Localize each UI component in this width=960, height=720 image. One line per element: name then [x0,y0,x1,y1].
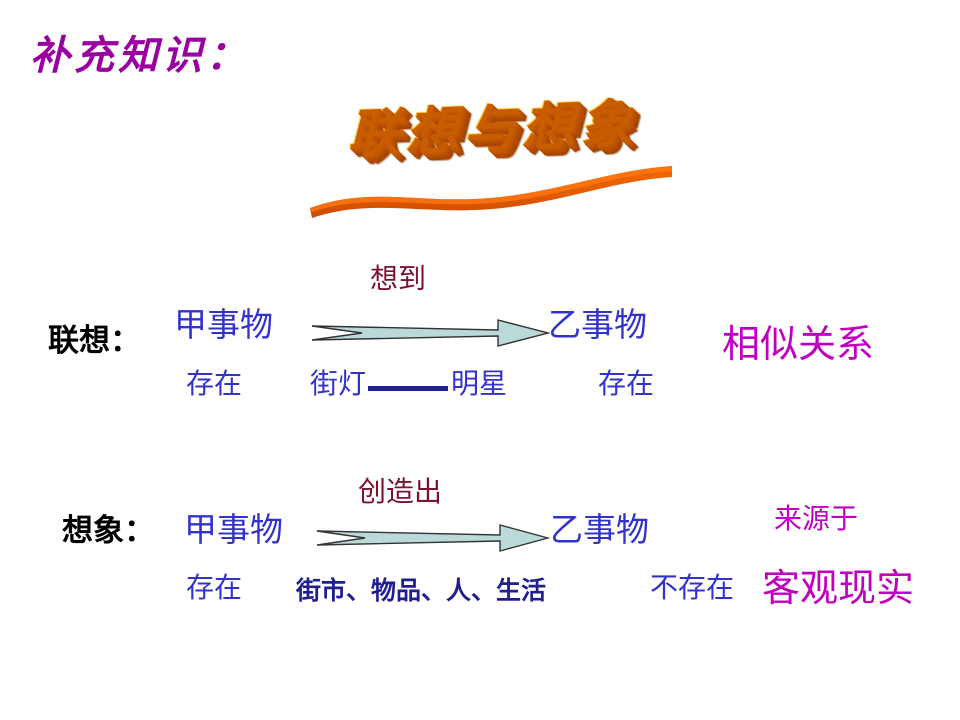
arrow-label-lianxiang: 想到 [370,266,426,294]
right-arrow-icon-lianxiang [310,316,550,350]
source-xiangxiang: 甲事物 [184,515,283,548]
target-state-lianxiang: 存在 [598,371,654,399]
slide-canvas: 补充知识： 联想与想象 联想： 想到 甲事物 乙事物 存在 街灯 [0,0,960,720]
wordart-title-group: 联想与想象 [300,98,680,218]
target-lianxiang: 乙事物 [548,310,647,343]
example-right-lianxiang: 明星 [451,371,507,399]
source-lianxiang: 甲事物 [174,310,273,343]
wordart-title: 联想与想象 [322,95,662,163]
example-left-xiangxiang: 街市、物品、人、生活 [296,579,546,604]
arrow-label-xiangxiang: 创造出 [358,479,442,507]
conclusion-line-2-xiangxiang: 客观现实 [762,570,914,608]
example-left-lianxiang: 街灯 [310,371,366,399]
diagram-row-lianxiang: 联想： 想到 甲事物 乙事物 存在 街灯 明星 存在 相似关系 [0,258,960,418]
target-xiangxiang: 乙事物 [550,515,649,548]
conclusion-lianxiang: 相似关系 [722,326,874,364]
conclusion-line-1-xiangxiang: 来源于 [774,506,858,534]
source-state-lianxiang: 存在 [186,371,242,399]
source-state-xiangxiang: 存在 [186,575,242,603]
example-connector-lianxiang [368,386,448,391]
row-label-lianxiang: 联想： [48,326,141,357]
wordart-ribbon-icon [300,160,680,218]
page-title: 补充知识： [30,36,250,76]
right-arrow-icon-xiangxiang [315,522,550,554]
target-state-xiangxiang: 不存在 [650,575,734,603]
row-label-xiangxiang: 想象： [62,516,155,547]
diagram-row-xiangxiang: 想象： 创造出 甲事物 乙事物 存在 街市、物品、人、生活 不存在 来源于 客观… [0,470,960,640]
